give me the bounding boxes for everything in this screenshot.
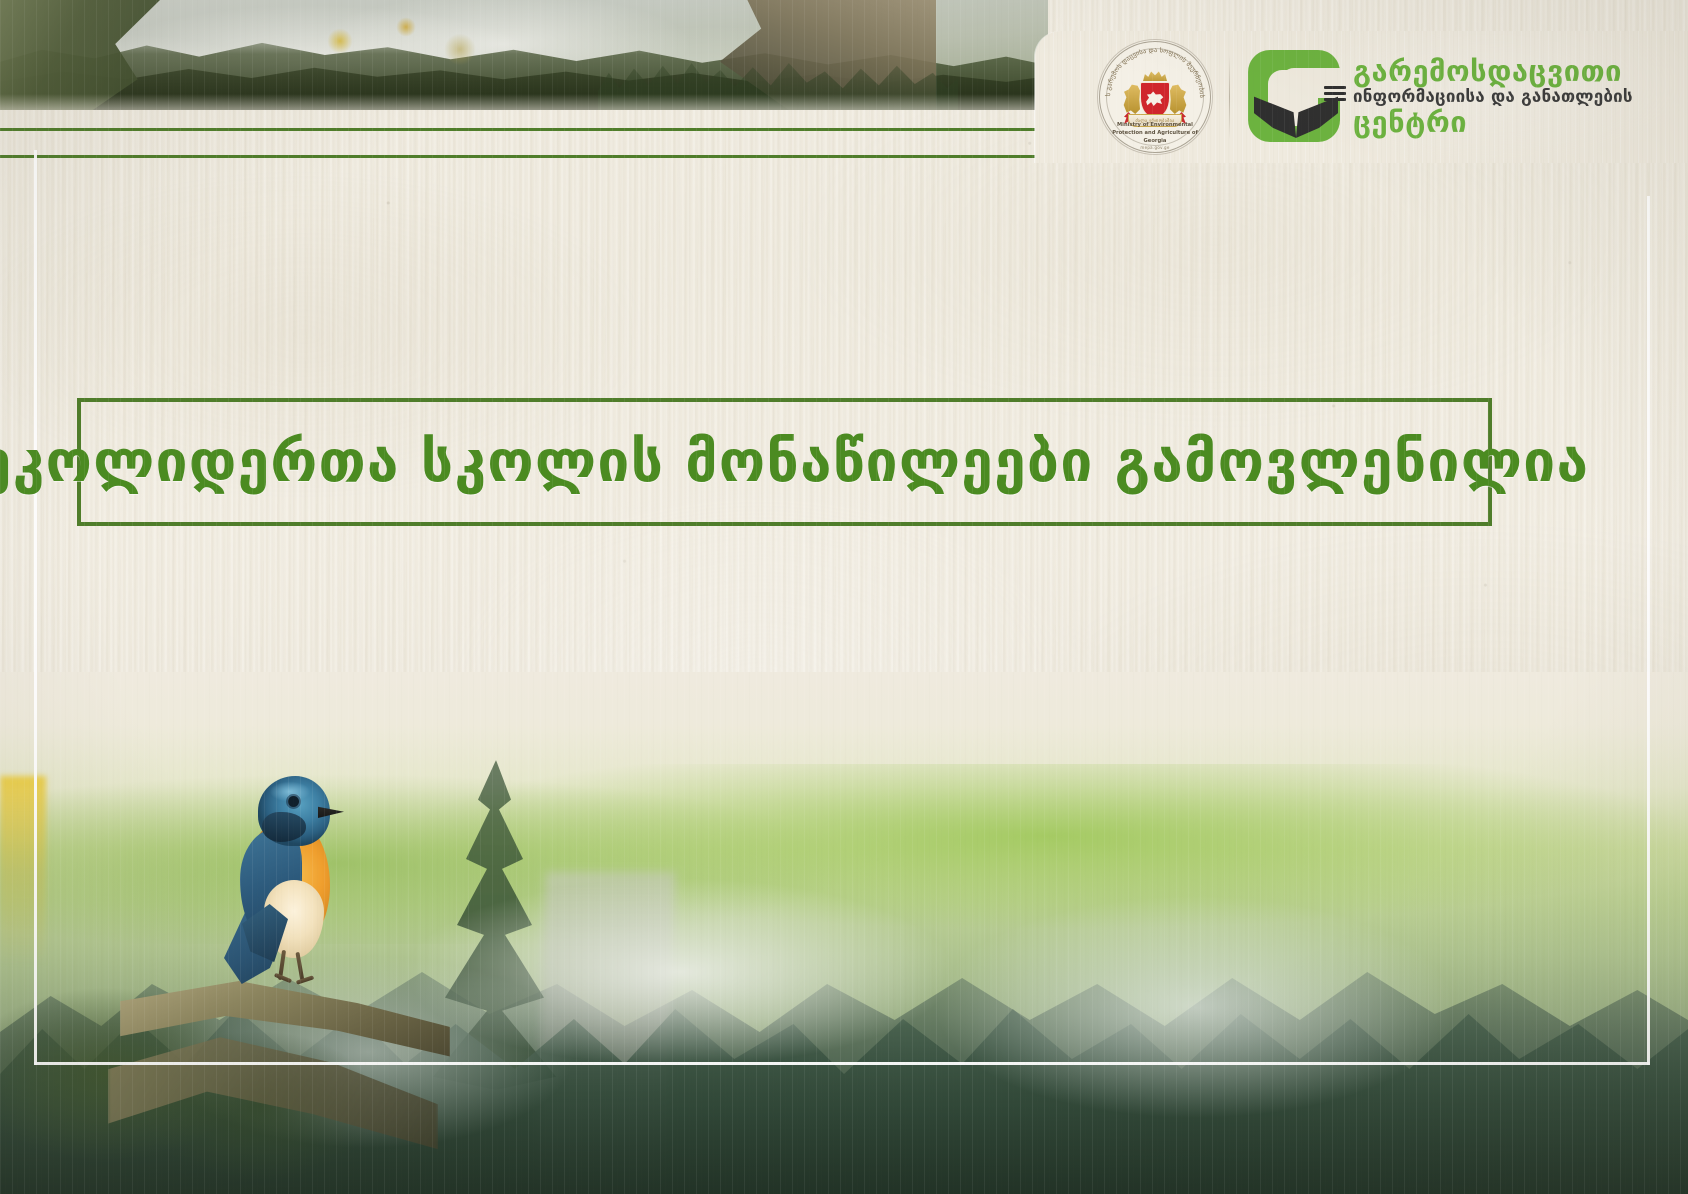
- top-photo-strip: [0, 0, 1048, 110]
- seal-url: mepa.gov.ge: [1140, 145, 1169, 150]
- lion-supporter-right-icon: [1170, 84, 1187, 114]
- bird-eye: [288, 796, 299, 807]
- eiec-open-book-mark-icon: [1246, 48, 1344, 146]
- eiec-logo-line-3: ცენტრი: [1353, 108, 1633, 137]
- eiec-logo-line-1: გარემოსდაცვითი: [1353, 57, 1633, 86]
- frame-line-right: [1647, 196, 1650, 1065]
- eiec-logo-line-2: ინფორმაციისა და განათლების: [1353, 89, 1633, 106]
- seal-english-name: Ministry of Environmental Protection and…: [1112, 122, 1198, 145]
- eiec-mark-bars-icon: [1324, 86, 1346, 102]
- bird-legs: [270, 950, 318, 998]
- blue-and-orange-flycatcher-bird: [214, 754, 364, 1012]
- frame-line-left: [34, 150, 37, 1065]
- band-mist-patch-2: [880, 872, 1580, 1172]
- bar-3: [1324, 98, 1346, 101]
- top-strip-autumn-foliage: [250, 6, 550, 76]
- eiec-logo-text: გარემოსდაცვითი ინფორმაციისა და განათლები…: [1353, 57, 1633, 137]
- bird-toe-right: [296, 975, 314, 984]
- crown-icon: [1143, 70, 1167, 81]
- shield-icon: [1140, 82, 1170, 118]
- bird-toe-left: [274, 973, 292, 983]
- logo-card: საქართველოს გარემოს დაცვისა და სოფლის მე…: [1035, 31, 1688, 163]
- georgia-coat-of-arms-seal-icon: საქართველოს გარემოს დაცვისა და სოფლის მე…: [1097, 39, 1213, 155]
- header-rule-upper: [0, 128, 1048, 131]
- top-strip-bottom-fade: [0, 94, 1048, 110]
- logo-divider: [1229, 55, 1230, 139]
- coat-of-arms-figure: ძალა ერთობაშია: [1123, 70, 1187, 126]
- eiec-logo: გარემოსდაცვითი ინფორმაციისა და განათლები…: [1246, 48, 1633, 146]
- bar-1: [1324, 86, 1346, 89]
- bar-2: [1324, 92, 1346, 95]
- title-box: ეკოლიდერთა სკოლის მონაწილეები გამოვლენილ…: [77, 398, 1492, 526]
- header-rule-lower: [0, 155, 1048, 158]
- frame-line-bottom: [34, 1062, 1650, 1065]
- page-title: ეკოლიდერთა სკოლის მონაწილეები გამოვლენილ…: [0, 429, 1589, 495]
- book-page-left: [1254, 92, 1297, 138]
- poster-root: საქართველოს გარემოს დაცვისა და სოფლის მე…: [0, 0, 1688, 1194]
- band-yellow-foliage: [0, 776, 46, 966]
- lion-supporter-left-icon: [1123, 84, 1140, 114]
- saint-george-horse-icon: [1144, 90, 1165, 109]
- logo-row: საქართველოს გარემოს დაცვისა და სოფლის მე…: [1035, 31, 1688, 163]
